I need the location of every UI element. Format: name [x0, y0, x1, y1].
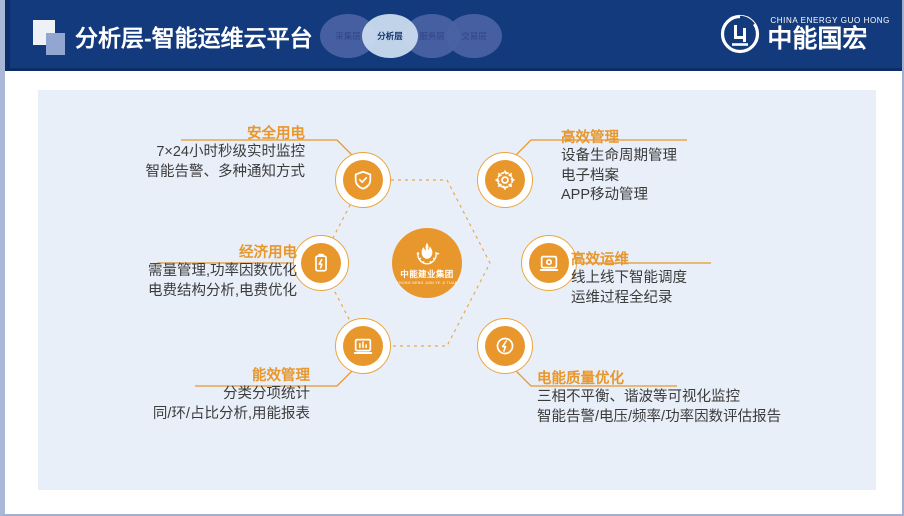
- node-power-quality[interactable]: [477, 318, 533, 374]
- node-safe-electricity[interactable]: [335, 152, 391, 208]
- monitor-gear-icon: [529, 243, 569, 283]
- center-company-cn: 中能建业集团: [400, 268, 453, 280]
- battery-bolt-icon: [301, 243, 341, 283]
- block-energy-title: 能效管理: [60, 368, 310, 385]
- pill-analysis-layer[interactable]: 分析层: [362, 14, 418, 58]
- shield-check-icon: [343, 160, 383, 200]
- block-economic-electricity: 经济用电 需量管理,功率因数优化 电费结构分析,电费优化: [35, 245, 297, 301]
- node-energy-efficiency[interactable]: [335, 318, 391, 374]
- block-econ-line-2: 电费结构分析,电费优化: [35, 282, 297, 301]
- block-power-line-2: 智能告警/电压/频率/功率因数评估报告: [537, 408, 877, 427]
- hexagon-diagram: 中能建业集团 ZHONG NENG JIAN YE JI TUAN: [305, 140, 565, 385]
- block-safe-electricity: 安全用电 7×24小时秒级实时监控 智能告警、多种通知方式: [60, 126, 305, 182]
- block-power-title: 电能质量优化: [537, 371, 877, 388]
- block-manage-title: 高效管理: [561, 130, 861, 147]
- bolt-circle-icon: [485, 326, 525, 366]
- block-manage-line-2: 电子档案: [561, 167, 861, 186]
- node-efficient-management[interactable]: [477, 152, 533, 208]
- node-economic-electricity[interactable]: [293, 235, 349, 291]
- block-safe-line-2: 智能告警、多种通知方式: [60, 163, 305, 182]
- block-manage-line-3: APP移动管理: [561, 186, 861, 205]
- block-econ-line-1: 需量管理,功率因数优化: [35, 262, 297, 281]
- center-company-en: ZHONG NENG JIAN YE JI TUAN: [396, 281, 457, 285]
- block-ops-line-2: 运维过程全纪录: [571, 289, 871, 308]
- laptop-chart-icon: [343, 326, 383, 366]
- block-energy-efficiency: 能效管理 分类分项统计 同/环/占比分析,用能报表: [60, 368, 310, 424]
- block-energy-line-1: 分类分项统计: [60, 385, 310, 404]
- block-econ-title: 经济用电: [35, 245, 297, 262]
- block-efficient-ops: 高效运维 线上线下智能调度 运维过程全纪录: [571, 252, 871, 308]
- block-energy-line-2: 同/环/占比分析,用能报表: [60, 405, 310, 424]
- gear-icon: [485, 160, 525, 200]
- block-safe-line-1: 7×24小时秒级实时监控: [60, 143, 305, 162]
- block-efficient-management: 高效管理 设备生命周期管理 电子档案 APP移动管理: [561, 130, 861, 205]
- block-safe-title: 安全用电: [60, 126, 305, 143]
- slide-root: 分析层-智能运维云平台 采集层 分析层 服务层 交易层 CHINA ENERGY…: [0, 0, 904, 516]
- node-efficient-ops[interactable]: [521, 235, 577, 291]
- block-power-quality: 电能质量优化 三相不平衡、谐波等可视化监控 智能告警/电压/频率/功率因数评估报…: [537, 371, 877, 427]
- block-ops-line-1: 线上线下智能调度: [571, 269, 871, 288]
- center-company-emblem: 中能建业集团 ZHONG NENG JIAN YE JI TUAN: [392, 228, 462, 298]
- block-manage-line-1: 设备生命周期管理: [561, 147, 861, 166]
- flame-gear-emblem-icon: [412, 241, 442, 267]
- block-ops-title: 高效运维: [571, 252, 871, 269]
- block-power-line-1: 三相不平衡、谐波等可视化监控: [537, 388, 877, 407]
